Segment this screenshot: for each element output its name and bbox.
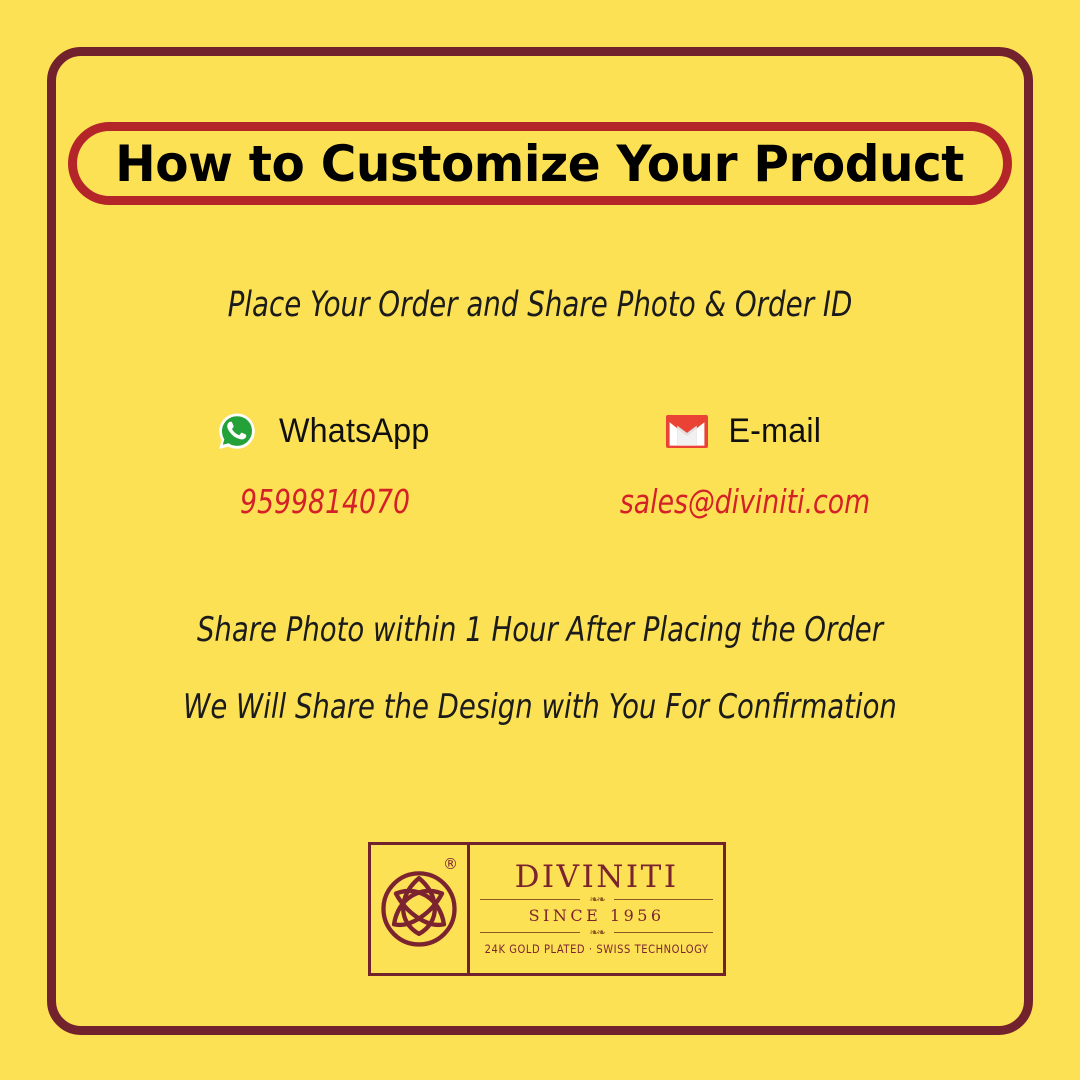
contact-email[interactable]: E-mail sales@diviniti.com bbox=[525, 405, 965, 521]
logo-rule-right bbox=[614, 899, 714, 900]
contact-whatsapp[interactable]: WhatsApp 9599814070 bbox=[105, 405, 545, 521]
page-title: How to Customize Your Product bbox=[116, 135, 965, 193]
logo-rule-left bbox=[480, 899, 580, 900]
contact-email-label: E-mail bbox=[729, 412, 822, 451]
title-banner: How to Customize Your Product bbox=[68, 122, 1012, 205]
logo-rule-right bbox=[614, 932, 714, 933]
logo-tagline: 24K GOLD PLATED · SWISS TECHNOLOGY bbox=[485, 942, 709, 956]
whatsapp-icon bbox=[217, 411, 257, 451]
logo-rule-left bbox=[480, 932, 580, 933]
logo-since-text: SINCE 1956 bbox=[529, 904, 665, 928]
contact-email-header: E-mail bbox=[525, 405, 965, 457]
promo-poster: How to Customize Your Product Place Your… bbox=[0, 0, 1080, 1080]
logo-divider-top: ❧❧ bbox=[480, 895, 713, 904]
gmail-icon bbox=[666, 415, 708, 448]
whatsapp-number[interactable]: 9599814070 bbox=[127, 482, 523, 521]
logo-text-cell: DIVINITI ❧❧ SINCE 1956 ❧❧ 24K GOLD PLATE… bbox=[470, 845, 723, 973]
triquetra-icon bbox=[371, 859, 467, 959]
registered-trademark-icon: ® bbox=[443, 857, 458, 872]
instruction-line-1: Share Photo within 1 Hour After Placing … bbox=[54, 610, 1026, 650]
brand-logo: ® DIVINITI ❧❧ SINCE 1956 ❧❧ 24K GOLD PLA… bbox=[368, 842, 726, 976]
logo-ornament-icon: ❧❧ bbox=[580, 927, 614, 938]
logo-divider-bottom: ❧❧ bbox=[480, 928, 713, 937]
logo-mark-cell: ® bbox=[371, 845, 470, 973]
contact-row: WhatsApp 9599814070 E-mail bbox=[0, 405, 1080, 545]
subtitle-text: Place Your Order and Share Photo & Order… bbox=[65, 285, 1015, 325]
logo-wordmark: DIVINITI bbox=[515, 862, 679, 893]
email-address[interactable]: sales@diviniti.com bbox=[547, 482, 943, 521]
contact-whatsapp-header: WhatsApp bbox=[105, 405, 545, 457]
contact-whatsapp-label: WhatsApp bbox=[279, 412, 430, 451]
instruction-line-2: We Will Share the Design with You For Co… bbox=[54, 687, 1026, 727]
